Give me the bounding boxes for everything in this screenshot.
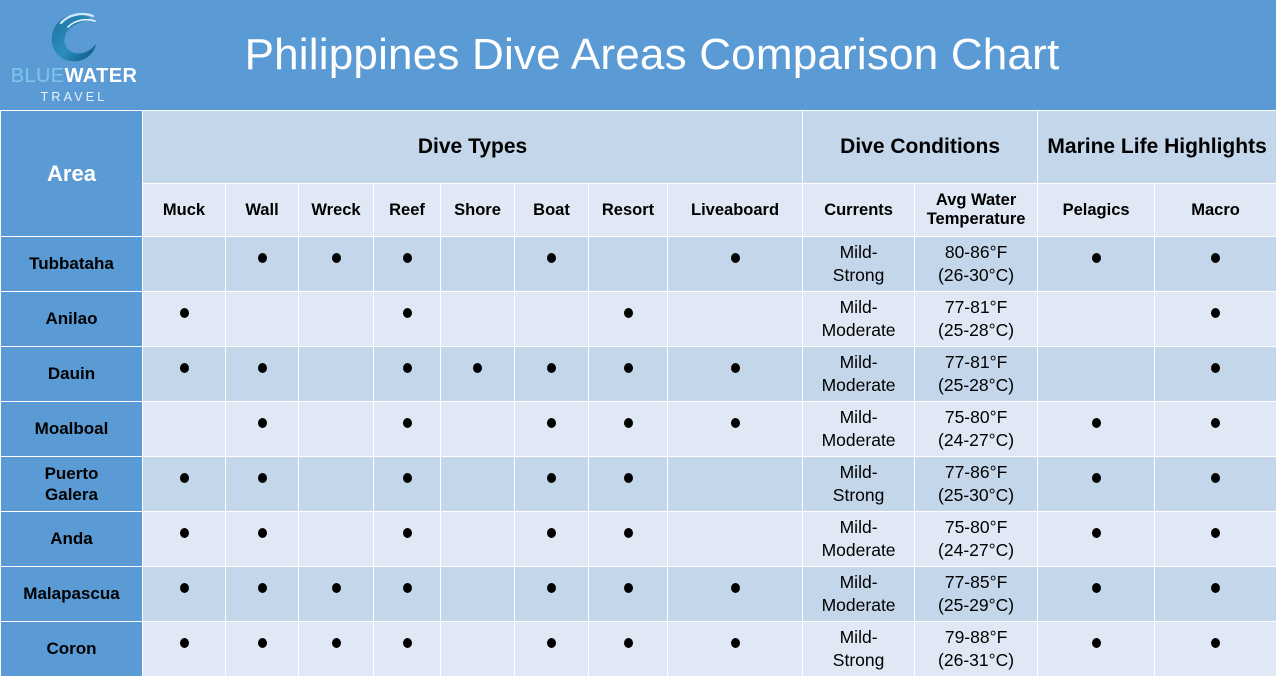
dot-marker-icon — [589, 582, 667, 605]
cell-shore — [441, 237, 515, 292]
cell-muck — [143, 402, 226, 457]
currents-line: Mild- — [803, 461, 914, 484]
table-row: MalapascuaMild-Moderate77-85°F(25-29°C) — [1, 567, 1276, 622]
temperature-line: 77-85°F — [915, 571, 1037, 594]
row-header-area: PuertoGalera — [1, 457, 143, 512]
dot-icon — [403, 638, 412, 648]
cell-resort — [589, 402, 668, 457]
dot-icon — [180, 363, 189, 373]
cell-avg-water-temperature: 77-85°F(25-29°C) — [915, 567, 1038, 622]
dot-marker-icon — [515, 527, 588, 550]
dot-marker-icon — [1155, 307, 1276, 330]
dot-marker-icon — [515, 417, 588, 440]
cell-resort — [589, 457, 668, 512]
column-header-macro: Macro — [1155, 184, 1276, 237]
cell-shore — [441, 567, 515, 622]
currents-line: Moderate — [803, 374, 914, 397]
logo-word-blue: BLUE — [11, 65, 65, 87]
dot-marker-icon — [374, 252, 440, 275]
dot-icon — [403, 473, 412, 483]
dot-marker-icon — [589, 637, 667, 660]
temperature-line: 77-86°F — [915, 461, 1037, 484]
dot-icon — [180, 638, 189, 648]
cell-liveaboard — [668, 622, 803, 677]
dot-marker-icon — [226, 252, 298, 275]
cell-reef — [374, 457, 441, 512]
cell-boat — [515, 347, 589, 402]
dot-marker-icon — [1155, 582, 1276, 605]
table-body: TubbatahaMild-Strong80-86°F(26-30°C)Anil… — [1, 237, 1276, 677]
dot-icon — [1211, 528, 1220, 538]
row-header-area: Dauin — [1, 347, 143, 402]
dot-marker-icon — [143, 307, 225, 330]
cell-muck — [143, 237, 226, 292]
wave-logo-icon — [43, 9, 105, 65]
column-header-boat: Boat — [515, 184, 589, 237]
cell-reef — [374, 622, 441, 677]
dot-icon — [547, 363, 556, 373]
dot-icon — [258, 473, 267, 483]
dot-marker-icon — [299, 582, 373, 605]
dot-icon — [332, 638, 341, 648]
cell-macro — [1155, 292, 1276, 347]
cell-currents: Mild-Moderate — [803, 512, 915, 567]
row-header-area: Coron — [1, 622, 143, 677]
currents-line: Strong — [803, 484, 914, 507]
dot-marker-icon — [1155, 637, 1276, 660]
row-header-area: Anilao — [1, 292, 143, 347]
cell-reef — [374, 512, 441, 567]
dot-icon — [547, 528, 556, 538]
currents-line: Mild- — [803, 296, 914, 319]
cell-liveaboard — [668, 457, 803, 512]
temperature-line: 79-88°F — [915, 626, 1037, 649]
dot-icon — [1211, 308, 1220, 318]
row-header-line: Puerto — [1, 463, 142, 484]
cell-wall — [226, 292, 299, 347]
dot-marker-icon — [1038, 527, 1154, 550]
dot-icon — [547, 638, 556, 648]
logo-word-travel: TRAVEL — [41, 90, 108, 104]
dot-marker-icon — [143, 472, 225, 495]
dot-icon — [180, 308, 189, 318]
cell-avg-water-temperature: 79-88°F(26-31°C) — [915, 622, 1038, 677]
dot-icon — [1211, 583, 1220, 593]
dot-marker-icon — [226, 527, 298, 550]
dot-marker-icon — [668, 417, 802, 440]
table-row: PuertoGaleraMild-Strong77-86°F(25-30°C) — [1, 457, 1276, 512]
cell-liveaboard — [668, 347, 803, 402]
dot-marker-icon — [668, 362, 802, 385]
dot-marker-icon — [589, 417, 667, 440]
table-row: TubbatahaMild-Strong80-86°F(26-30°C) — [1, 237, 1276, 292]
cell-reef — [374, 402, 441, 457]
dot-marker-icon — [1038, 252, 1154, 275]
dot-marker-icon — [374, 527, 440, 550]
dot-marker-icon — [1038, 472, 1154, 495]
row-header-area: Anda — [1, 512, 143, 567]
cell-shore — [441, 292, 515, 347]
dot-marker-icon — [143, 582, 225, 605]
dot-marker-icon — [1038, 582, 1154, 605]
currents-line: Strong — [803, 264, 914, 287]
cell-muck — [143, 512, 226, 567]
cell-boat — [515, 457, 589, 512]
dot-marker-icon — [1155, 417, 1276, 440]
temperature-line: (26-30°C) — [915, 264, 1037, 287]
dot-icon — [403, 583, 412, 593]
cell-wreck — [299, 402, 374, 457]
dot-marker-icon — [143, 637, 225, 660]
temperature-line: (26-31°C) — [915, 649, 1037, 672]
cell-wreck — [299, 347, 374, 402]
comparison-chart-page: BLUEWATER TRAVEL Philippines Dive Areas … — [0, 0, 1276, 675]
dot-marker-icon — [589, 362, 667, 385]
cell-currents: Mild-Moderate — [803, 292, 915, 347]
dot-icon — [332, 583, 341, 593]
cell-macro — [1155, 622, 1276, 677]
dot-icon — [403, 363, 412, 373]
temperature-line: (24-27°C) — [915, 539, 1037, 562]
dot-icon — [403, 418, 412, 428]
dot-icon — [1211, 253, 1220, 263]
cell-wall — [226, 512, 299, 567]
dot-icon — [180, 583, 189, 593]
dot-icon — [403, 253, 412, 263]
dot-icon — [547, 418, 556, 428]
cell-liveaboard — [668, 237, 803, 292]
row-header-area: Malapascua — [1, 567, 143, 622]
brand-logo: BLUEWATER TRAVEL — [0, 0, 148, 110]
dot-icon — [258, 528, 267, 538]
cell-macro — [1155, 457, 1276, 512]
group-header-dive-types: Dive Types — [143, 111, 803, 184]
dot-icon — [1092, 583, 1101, 593]
column-header-shore: Shore — [441, 184, 515, 237]
cell-boat — [515, 622, 589, 677]
dot-marker-icon — [441, 362, 514, 385]
currents-line: Mild- — [803, 241, 914, 264]
dot-icon — [258, 418, 267, 428]
currents-line: Moderate — [803, 429, 914, 452]
cell-wall — [226, 457, 299, 512]
dot-icon — [624, 308, 633, 318]
cell-currents: Mild-Strong — [803, 622, 915, 677]
cell-boat — [515, 512, 589, 567]
cell-shore — [441, 347, 515, 402]
dot-marker-icon — [515, 362, 588, 385]
dot-marker-icon — [1155, 362, 1276, 385]
column-header-muck: Muck — [143, 184, 226, 237]
dot-icon — [1211, 363, 1220, 373]
temperature-line: (24-27°C) — [915, 429, 1037, 452]
row-header-area: Tubbataha — [1, 237, 143, 292]
temperature-line: (25-29°C) — [915, 594, 1037, 617]
cell-avg-water-temperature: 77-86°F(25-30°C) — [915, 457, 1038, 512]
dot-marker-icon — [1155, 527, 1276, 550]
cell-reef — [374, 567, 441, 622]
column-header-reef: Reef — [374, 184, 441, 237]
column-header-liveaboard: Liveaboard — [668, 184, 803, 237]
dot-icon — [624, 528, 633, 538]
dot-marker-icon — [226, 362, 298, 385]
dot-icon — [403, 528, 412, 538]
cell-currents: Mild-Moderate — [803, 402, 915, 457]
temperature-line: 80-86°F — [915, 241, 1037, 264]
dot-icon — [1211, 638, 1220, 648]
dot-marker-icon — [143, 362, 225, 385]
cell-wreck — [299, 292, 374, 347]
dot-marker-icon — [668, 637, 802, 660]
cell-wreck — [299, 457, 374, 512]
table-row: AnilaoMild-Moderate77-81°F(25-28°C) — [1, 292, 1276, 347]
dot-marker-icon — [668, 582, 802, 605]
dot-icon — [731, 583, 740, 593]
dot-marker-icon — [374, 472, 440, 495]
dot-icon — [547, 253, 556, 263]
column-header-wall: Wall — [226, 184, 299, 237]
cell-liveaboard — [668, 292, 803, 347]
dot-icon — [547, 583, 556, 593]
dot-icon — [1211, 418, 1220, 428]
cell-avg-water-temperature: 75-80°F(24-27°C) — [915, 512, 1038, 567]
currents-line: Moderate — [803, 594, 914, 617]
currents-line: Mild- — [803, 571, 914, 594]
cell-muck — [143, 292, 226, 347]
table-row: MoalboalMild-Moderate75-80°F(24-27°C) — [1, 402, 1276, 457]
dot-icon — [1092, 418, 1101, 428]
group-header-row: Area Dive Types Dive Conditions Marine L… — [1, 111, 1276, 184]
dot-marker-icon — [226, 637, 298, 660]
column-header-area: Area — [1, 111, 143, 237]
cell-currents: Mild-Strong — [803, 237, 915, 292]
dot-icon — [731, 363, 740, 373]
dot-icon — [731, 418, 740, 428]
table-row: AndaMild-Moderate75-80°F(24-27°C) — [1, 512, 1276, 567]
dot-icon — [624, 418, 633, 428]
dot-icon — [332, 253, 341, 263]
logo-word-water: WATER — [65, 65, 138, 87]
cell-pelagics — [1038, 512, 1155, 567]
cell-muck — [143, 457, 226, 512]
dot-marker-icon — [299, 252, 373, 275]
dot-icon — [624, 473, 633, 483]
dot-marker-icon — [668, 252, 802, 275]
dot-icon — [624, 583, 633, 593]
dot-marker-icon — [226, 582, 298, 605]
dot-icon — [258, 363, 267, 373]
cell-currents: Mild-Moderate — [803, 567, 915, 622]
cell-wall — [226, 567, 299, 622]
currents-line: Moderate — [803, 319, 914, 342]
cell-boat — [515, 292, 589, 347]
row-header-line: Galera — [1, 484, 142, 505]
cell-avg-water-temperature: 80-86°F(26-30°C) — [915, 237, 1038, 292]
cell-liveaboard — [668, 512, 803, 567]
temperature-line: 77-81°F — [915, 296, 1037, 319]
cell-pelagics — [1038, 347, 1155, 402]
column-header-row: Muck Wall Wreck Reef Shore Boat Resort L… — [1, 184, 1276, 237]
cell-shore — [441, 402, 515, 457]
dot-icon — [1211, 473, 1220, 483]
cell-macro — [1155, 402, 1276, 457]
dive-areas-comparison-table: Area Dive Types Dive Conditions Marine L… — [0, 110, 1276, 677]
dot-marker-icon — [1155, 472, 1276, 495]
cell-muck — [143, 622, 226, 677]
cell-resort — [589, 292, 668, 347]
cell-currents: Mild-Moderate — [803, 347, 915, 402]
currents-line: Strong — [803, 649, 914, 672]
currents-line: Moderate — [803, 539, 914, 562]
dot-marker-icon — [374, 582, 440, 605]
temperature-line: 75-80°F — [915, 516, 1037, 539]
column-header-avg-water-temperature: Avg Water Temperature — [915, 184, 1038, 237]
dot-marker-icon — [589, 527, 667, 550]
cell-pelagics — [1038, 457, 1155, 512]
cell-macro — [1155, 347, 1276, 402]
temperature-line: (25-28°C) — [915, 374, 1037, 397]
cell-resort — [589, 347, 668, 402]
temperature-line: (25-30°C) — [915, 484, 1037, 507]
dot-marker-icon — [515, 472, 588, 495]
cell-reef — [374, 292, 441, 347]
cell-pelagics — [1038, 237, 1155, 292]
cell-muck — [143, 347, 226, 402]
dot-marker-icon — [299, 637, 373, 660]
dot-marker-icon — [515, 582, 588, 605]
dot-icon — [258, 638, 267, 648]
dot-icon — [258, 583, 267, 593]
cell-resort — [589, 622, 668, 677]
cell-wall — [226, 347, 299, 402]
cell-wreck — [299, 567, 374, 622]
cell-pelagics — [1038, 402, 1155, 457]
cell-muck — [143, 567, 226, 622]
cell-pelagics — [1038, 622, 1155, 677]
page-banner: BLUEWATER TRAVEL Philippines Dive Areas … — [0, 0, 1276, 110]
cell-wreck — [299, 622, 374, 677]
temperature-line: 75-80°F — [915, 406, 1037, 429]
cell-avg-water-temperature: 77-81°F(25-28°C) — [915, 347, 1038, 402]
logo-wordmark: BLUEWATER — [11, 66, 138, 86]
cell-pelagics — [1038, 292, 1155, 347]
cell-liveaboard — [668, 402, 803, 457]
cell-avg-water-temperature: 75-80°F(24-27°C) — [915, 402, 1038, 457]
table-head: Area Dive Types Dive Conditions Marine L… — [1, 111, 1276, 237]
currents-line: Mild- — [803, 516, 914, 539]
cell-shore — [441, 512, 515, 567]
cell-resort — [589, 237, 668, 292]
cell-boat — [515, 237, 589, 292]
dot-icon — [1092, 638, 1101, 648]
group-header-dive-conditions: Dive Conditions — [803, 111, 1038, 184]
temperature-line: (25-28°C) — [915, 319, 1037, 342]
page-title: Philippines Dive Areas Comparison Chart — [148, 33, 1276, 77]
dot-icon — [1092, 473, 1101, 483]
column-header-pelagics: Pelagics — [1038, 184, 1155, 237]
dot-marker-icon — [515, 637, 588, 660]
dot-marker-icon — [374, 637, 440, 660]
dot-icon — [403, 308, 412, 318]
currents-line: Mild- — [803, 351, 914, 374]
temperature-line: 77-81°F — [915, 351, 1037, 374]
dot-marker-icon — [515, 252, 588, 275]
dot-icon — [473, 363, 482, 373]
dot-icon — [180, 473, 189, 483]
table-row: CoronMild-Strong79-88°F(26-31°C) — [1, 622, 1276, 677]
dot-marker-icon — [226, 417, 298, 440]
cell-boat — [515, 402, 589, 457]
cell-macro — [1155, 237, 1276, 292]
cell-resort — [589, 512, 668, 567]
dot-marker-icon — [143, 527, 225, 550]
dot-marker-icon — [226, 472, 298, 495]
currents-line: Mild- — [803, 406, 914, 429]
dot-marker-icon — [374, 362, 440, 385]
dot-marker-icon — [1038, 417, 1154, 440]
cell-shore — [441, 622, 515, 677]
dot-marker-icon — [1038, 637, 1154, 660]
dot-marker-icon — [374, 417, 440, 440]
cell-wall — [226, 402, 299, 457]
column-header-currents: Currents — [803, 184, 915, 237]
cell-wall — [226, 237, 299, 292]
dot-marker-icon — [589, 472, 667, 495]
dot-icon — [1092, 253, 1101, 263]
cell-pelagics — [1038, 567, 1155, 622]
cell-reef — [374, 347, 441, 402]
dot-icon — [624, 638, 633, 648]
dot-marker-icon — [589, 307, 667, 330]
dot-marker-icon — [1155, 252, 1276, 275]
cell-macro — [1155, 567, 1276, 622]
cell-avg-water-temperature: 77-81°F(25-28°C) — [915, 292, 1038, 347]
cell-wreck — [299, 237, 374, 292]
cell-resort — [589, 567, 668, 622]
row-header-area: Moalboal — [1, 402, 143, 457]
dot-icon — [180, 528, 189, 538]
dot-icon — [1092, 528, 1101, 538]
cell-macro — [1155, 512, 1276, 567]
cell-liveaboard — [668, 567, 803, 622]
cell-boat — [515, 567, 589, 622]
currents-line: Mild- — [803, 626, 914, 649]
cell-shore — [441, 457, 515, 512]
cell-wreck — [299, 512, 374, 567]
dot-marker-icon — [374, 307, 440, 330]
dot-icon — [731, 253, 740, 263]
group-header-marine-life-highlights: Marine Life Highlights — [1038, 111, 1276, 184]
dot-icon — [624, 363, 633, 373]
dot-icon — [258, 253, 267, 263]
dot-icon — [731, 638, 740, 648]
dot-icon — [547, 473, 556, 483]
column-header-resort: Resort — [589, 184, 668, 237]
cell-wall — [226, 622, 299, 677]
cell-currents: Mild-Strong — [803, 457, 915, 512]
cell-reef — [374, 237, 441, 292]
column-header-wreck: Wreck — [299, 184, 374, 237]
table-row: DauinMild-Moderate77-81°F(25-28°C) — [1, 347, 1276, 402]
